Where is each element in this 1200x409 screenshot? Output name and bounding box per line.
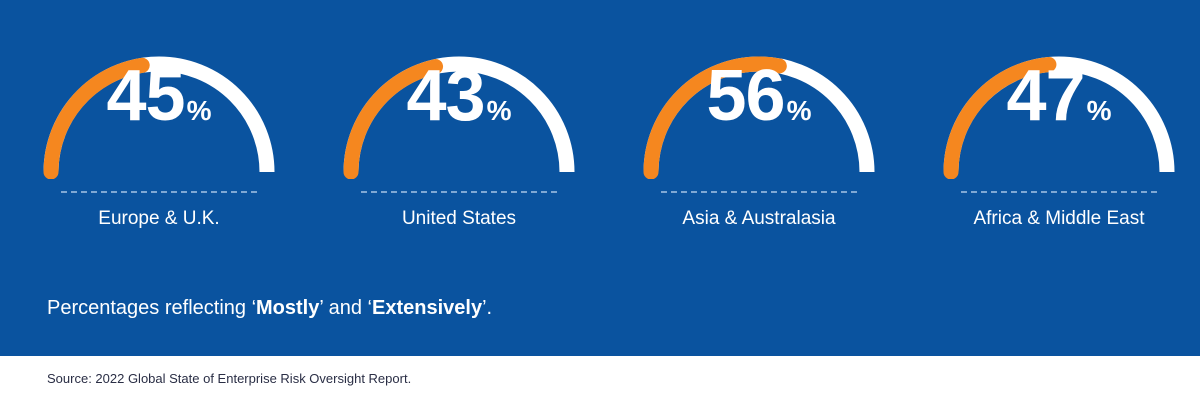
gauge-arc-wrapper: 43 %: [334, 34, 584, 179]
semicircular-gauge-icon: [634, 34, 884, 179]
gauge-arc-wrapper: 45 %: [34, 34, 284, 179]
gauge-label: Asia & Australasia: [682, 208, 835, 230]
caption-part-1: Percentages reflecting: [47, 297, 252, 319]
infographic-container: 45 % Europe & U.K. 43 % United States: [0, 0, 1200, 409]
source-citation: Source: 2022 Global State of Enterprise …: [47, 371, 411, 386]
gauge-dashed-divider: [61, 191, 257, 193]
gauge-card: 45 % Europe & U.K.: [18, 34, 300, 244]
gauge-row: 45 % Europe & U.K. 43 % United States: [0, 34, 1200, 244]
gauge-label: Africa & Middle East: [973, 208, 1144, 230]
gauge-arc-wrapper: 56 %: [634, 34, 884, 179]
caption-part-2: and: [323, 297, 367, 319]
caption-part-3: .: [487, 297, 493, 319]
footer-bar: Source: 2022 Global State of Enterprise …: [0, 356, 1200, 409]
caption-bold-extensively: Extensively: [372, 297, 482, 319]
semicircular-gauge-icon: [934, 34, 1184, 179]
gauge-card: 47 % Africa & Middle East: [918, 34, 1200, 244]
gauge-label: Europe & U.K.: [98, 208, 219, 230]
caption-note: Percentages reflecting ‘Mostly’ and ‘Ext…: [47, 297, 492, 320]
gauge-card: 56 % Asia & Australasia: [618, 34, 900, 244]
caption-bold-mostly: Mostly: [256, 297, 319, 319]
gauge-arc-wrapper: 47 %: [934, 34, 1184, 179]
gauge-dashed-divider: [961, 191, 1157, 193]
gauge-dashed-divider: [661, 191, 857, 193]
gauge-card: 43 % United States: [318, 34, 600, 244]
semicircular-gauge-icon: [334, 34, 584, 179]
gauge-label: United States: [402, 208, 516, 230]
semicircular-gauge-icon: [34, 34, 284, 179]
gauge-dashed-divider: [361, 191, 557, 193]
